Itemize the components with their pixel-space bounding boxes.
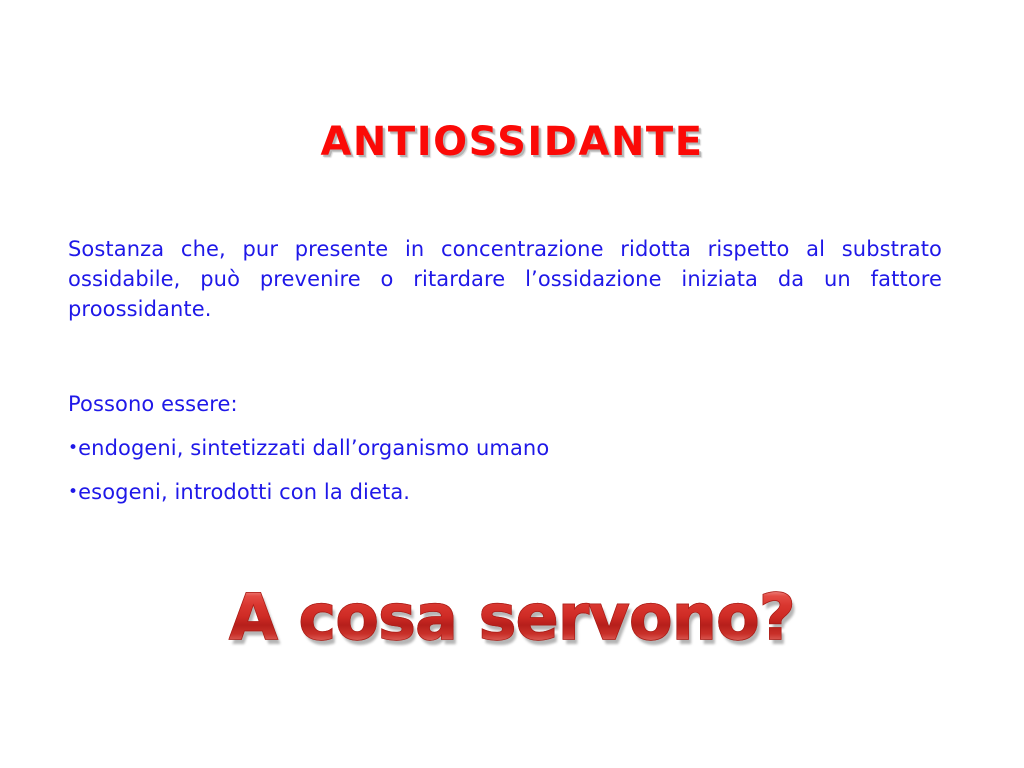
page-title: ANTIOSSIDANTE bbox=[0, 121, 1024, 164]
bullet-icon: • bbox=[68, 482, 78, 502]
question-wordart-stack: A cosa servono? A cosa servono? A cosa s… bbox=[229, 586, 795, 649]
definition-paragraph: Sostanza che, pur presente in concentraz… bbox=[68, 234, 942, 354]
bullet-list: •endogeni, sintetizzati dall’organismo u… bbox=[68, 434, 768, 506]
list-item-label: esogeni, introdotti con la dieta. bbox=[78, 480, 410, 504]
question-wordart-block: A cosa servono? A cosa servono? A cosa s… bbox=[0, 586, 1024, 666]
list-item: •endogeni, sintetizzati dall’organismo u… bbox=[68, 434, 768, 462]
definition-block: Sostanza che, pur presente in concentraz… bbox=[68, 234, 942, 354]
list-block: Possono essere: •endogeni, sintetizzati … bbox=[68, 390, 768, 522]
bullet-icon: • bbox=[68, 438, 78, 458]
list-lead-in: Possono essere: bbox=[68, 390, 768, 418]
list-item: •esogeni, introdotti con la dieta. bbox=[68, 478, 768, 506]
question-wordart-text: A cosa servono? bbox=[229, 586, 795, 649]
slide-canvas: ANTIOSSIDANTE Sostanza che, pur presente… bbox=[0, 0, 1024, 768]
list-item-label: endogeni, sintetizzati dall’organismo um… bbox=[78, 436, 549, 460]
